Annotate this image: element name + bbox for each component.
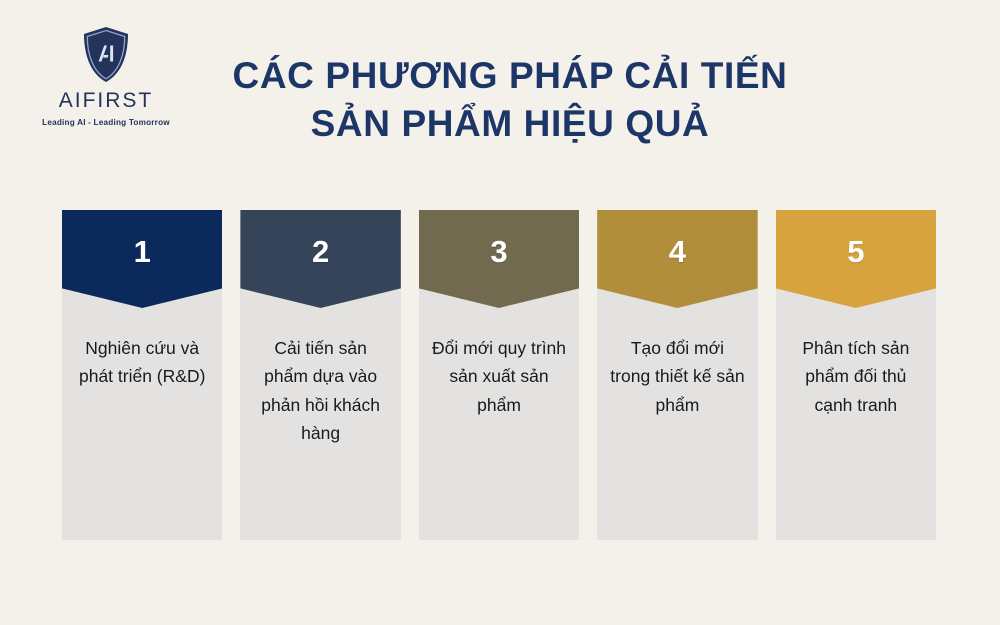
step-label: Tạo đổi mới trong thiết kế sản phẩm [597, 308, 757, 433]
step-label: Đổi mới quy trình sản xuất sản phẩm [419, 308, 579, 433]
step-card-1-header: 1 [62, 210, 222, 308]
step-number: 1 [134, 236, 151, 267]
steps-row: 1 Nghiên cứu và phát triển (R&D) 2 Cải t… [62, 210, 936, 540]
page-title: CÁC PHƯƠNG PHÁP CẢI TIẾN SẢN PHẨM HIỆU Q… [200, 52, 820, 148]
step-card-3-header: 3 [419, 210, 579, 308]
step-card-2[interactable]: 2 Cải tiến sản phẩm dựa vào phản hồi khá… [240, 210, 400, 540]
step-number: 3 [490, 236, 507, 267]
step-label: Nghiên cứu và phát triển (R&D) [62, 308, 222, 405]
brand-logo: AIFIRST Leading AI - Leading Tomorrow [22, 26, 190, 127]
step-number: 2 [312, 236, 329, 267]
infographic-page: AIFIRST Leading AI - Leading Tomorrow CÁ… [0, 0, 1000, 625]
step-card-1[interactable]: 1 Nghiên cứu và phát triển (R&D) [62, 210, 222, 540]
step-label: Cải tiến sản phẩm dựa vào phản hồi khách… [240, 308, 400, 461]
brand-wordmark: AIFIRST [22, 90, 190, 111]
step-card-4-header: 4 [597, 210, 757, 308]
step-card-3[interactable]: 3 Đổi mới quy trình sản xuất sản phẩm [419, 210, 579, 540]
step-label: Phân tích sản phẩm đối thủ cạnh tranh [776, 308, 936, 433]
step-card-4[interactable]: 4 Tạo đổi mới trong thiết kế sản phẩm [597, 210, 757, 540]
shield-ai-icon [81, 26, 131, 84]
page-title-line-2: SẢN PHẨM HIỆU QUẢ [200, 100, 820, 148]
step-number: 4 [669, 236, 686, 267]
brand-tagline: Leading AI - Leading Tomorrow [22, 119, 190, 127]
step-card-2-header: 2 [240, 210, 400, 308]
step-number: 5 [847, 236, 864, 267]
page-title-line-1: CÁC PHƯƠNG PHÁP CẢI TIẾN [200, 52, 820, 100]
step-card-5-header: 5 [776, 210, 936, 308]
step-card-5[interactable]: 5 Phân tích sản phẩm đối thủ cạnh tranh [776, 210, 936, 540]
